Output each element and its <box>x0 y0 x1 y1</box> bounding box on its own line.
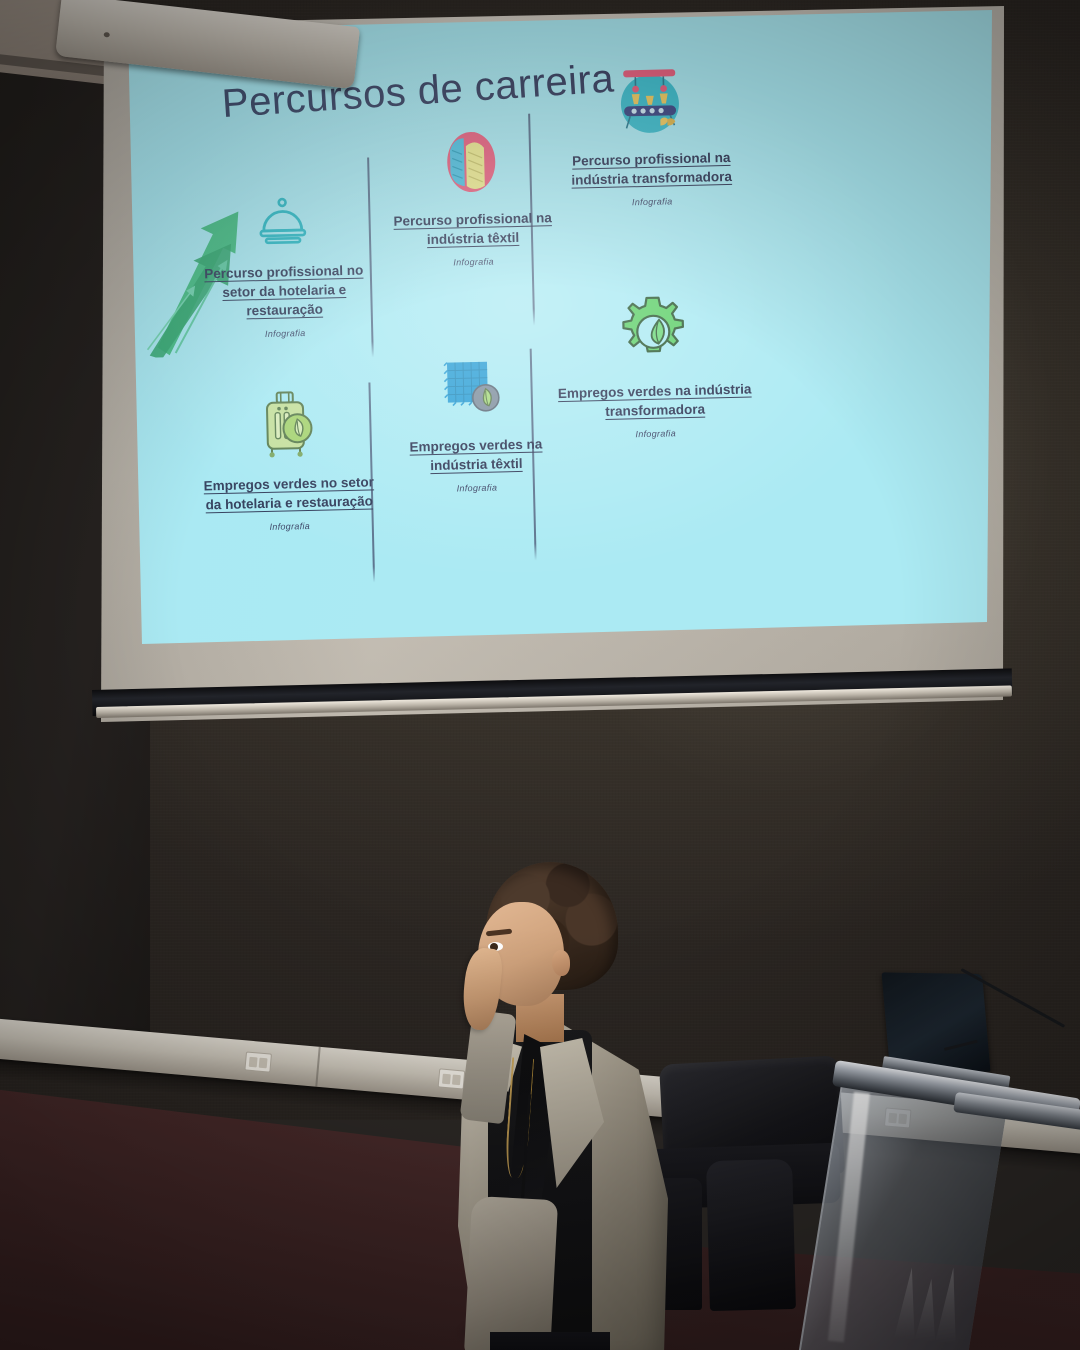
slide-cell-transformadora-verdes[interactable]: Empregos verdes na indústria transformad… <box>554 282 754 442</box>
fabric-swatch-leaf-icon <box>385 336 563 426</box>
presenter-ear <box>552 950 570 976</box>
presenter-sleeve <box>464 1196 558 1350</box>
projection-screen: Percursos de carreira <box>0 0 1080 760</box>
slide-content: Percursos de carreira <box>132 8 1008 640</box>
cell-title: Percurso profissional na indústria trans… <box>553 147 750 190</box>
cell-title: Empregos verdes na indústria transformad… <box>557 379 754 422</box>
glass-lectern <box>836 1052 1080 1350</box>
slide-cell-hotelaria-verdes[interactable]: Empregos verdes no setor da hotelaria e … <box>194 374 382 534</box>
yarn-spools-icon <box>382 110 560 200</box>
cell-subtitle: Infografia <box>558 427 754 442</box>
slide-cell-textil-verdes[interactable]: Empregos verdes na indústria têxtil Info… <box>385 336 565 495</box>
cell-title: Empregos verdes na indústria têxtil <box>388 434 565 476</box>
cell-subtitle: Infografia <box>198 520 382 534</box>
cell-subtitle: Infografia <box>386 255 562 269</box>
slide-cell-textil-percurso[interactable]: Percurso profissional na indústria têxti… <box>382 110 562 269</box>
raceway-seam <box>315 1047 320 1087</box>
cell-subtitle: Infografia <box>554 195 750 210</box>
cell-title: Empregos verdes no setor da hotelaria e … <box>197 472 382 515</box>
cell-subtitle: Infografia <box>389 481 565 495</box>
factory-conveyor-icon <box>551 50 749 141</box>
cell-title: Percurso profissional no setor da hotela… <box>196 260 373 322</box>
presenter <box>430 862 730 1350</box>
slide-cell-hotelaria-percurso[interactable]: Percurso profissional no setor da hotela… <box>193 162 373 341</box>
service-bell-icon <box>193 162 371 252</box>
cell-subtitle: Infografia <box>197 327 373 341</box>
gear-leaf-icon <box>554 282 752 373</box>
green-suitcase-leaf-icon <box>194 374 380 464</box>
cell-title: Percurso profissional na indústria têxti… <box>384 208 561 250</box>
housing-screw <box>103 32 110 38</box>
slide-cell-transformadora-percurso[interactable]: Percurso profissional na indústria trans… <box>551 50 751 210</box>
power-outlet[interactable] <box>244 1051 272 1072</box>
presentation-room-scene: Percursos de carreira <box>0 0 1080 1350</box>
presenter-trousers <box>490 1332 610 1350</box>
